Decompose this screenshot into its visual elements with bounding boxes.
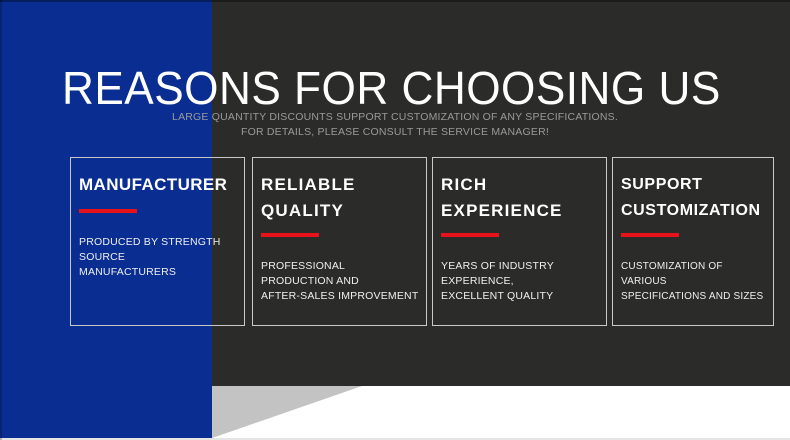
red-underline-rule <box>441 233 499 237</box>
card-body-line-2: VARIOUS <box>621 274 765 289</box>
card-title-line-2: QUALITY <box>261 201 344 220</box>
page-title: REASONS FOR CHOOSING US <box>62 61 721 115</box>
card-title: MANUFACTURER <box>79 172 236 198</box>
subtitle-line-2: FOR DETAILS, PLEASE CONSULT THE SERVICE … <box>0 125 790 140</box>
card-title-line-1: RELIABLE <box>261 175 356 194</box>
card-body: YEARS OF INDUSTRY EXPERIENCE, EXCELLENT … <box>441 259 598 304</box>
feature-card-rich-experience: RICH EXPERIENCE YEARS OF INDUSTRY EXPERI… <box>432 157 607 326</box>
card-body-line-3: MANUFACTURERS <box>79 265 236 280</box>
card-body-line-1: YEARS OF INDUSTRY <box>441 259 598 274</box>
card-body-line-1: PRODUCED BY STRENGTH <box>79 235 236 250</box>
card-title: RELIABLE QUALITY <box>261 172 418 224</box>
gray-triangle-accent <box>212 386 362 438</box>
card-body: PROFESSIONAL PRODUCTION AND AFTER-SALES … <box>261 259 418 304</box>
card-body-line-2: SOURCE <box>79 250 236 265</box>
card-body-line-2: PRODUCTION AND <box>261 274 418 289</box>
card-title-line-2: CUSTOMIZATION <box>621 202 761 219</box>
card-body-line-1: PROFESSIONAL <box>261 259 418 274</box>
card-title-line-2: EXPERIENCE <box>441 201 563 220</box>
card-body-line-2: EXPERIENCE, <box>441 274 598 289</box>
red-underline-rule <box>79 209 137 213</box>
feature-card-reliable-quality: RELIABLE QUALITY PROFESSIONAL PRODUCTION… <box>252 157 427 326</box>
card-body: CUSTOMIZATION OF VARIOUS SPECIFICATIONS … <box>621 259 765 304</box>
card-title-line-1: SUPPORT <box>621 176 703 193</box>
red-underline-rule <box>261 233 319 237</box>
feature-card-manufacturer: MANUFACTURER PRODUCED BY STRENGTH SOURCE… <box>70 157 245 326</box>
card-title-line-1: RICH <box>441 175 487 194</box>
card-body-line-3: AFTER-SALES IMPROVEMENT <box>261 289 418 304</box>
red-underline-rule <box>621 233 679 237</box>
card-body-line-3: SPECIFICATIONS AND SIZES <box>621 289 765 304</box>
promo-banner: REASONS FOR CHOOSING US LARGE QUANTITY D… <box>0 0 790 440</box>
card-title-line-1: MANUFACTURER <box>79 175 227 194</box>
card-title: RICH EXPERIENCE <box>441 172 598 224</box>
card-title: SUPPORT CUSTOMIZATION <box>621 172 765 224</box>
banner-subtitle: LARGE QUANTITY DISCOUNTS SUPPORT CUSTOMI… <box>0 110 790 140</box>
card-body-line-1: CUSTOMIZATION OF <box>621 259 765 274</box>
feature-card-list: MANUFACTURER PRODUCED BY STRENGTH SOURCE… <box>70 157 774 326</box>
card-body: PRODUCED BY STRENGTH SOURCE MANUFACTURER… <box>79 235 236 280</box>
card-body-line-3: EXCELLENT QUALITY <box>441 289 598 304</box>
feature-card-support-customization: SUPPORT CUSTOMIZATION CUSTOMIZATION OF V… <box>612 157 774 326</box>
subtitle-line-1: LARGE QUANTITY DISCOUNTS SUPPORT CUSTOMI… <box>172 111 618 123</box>
